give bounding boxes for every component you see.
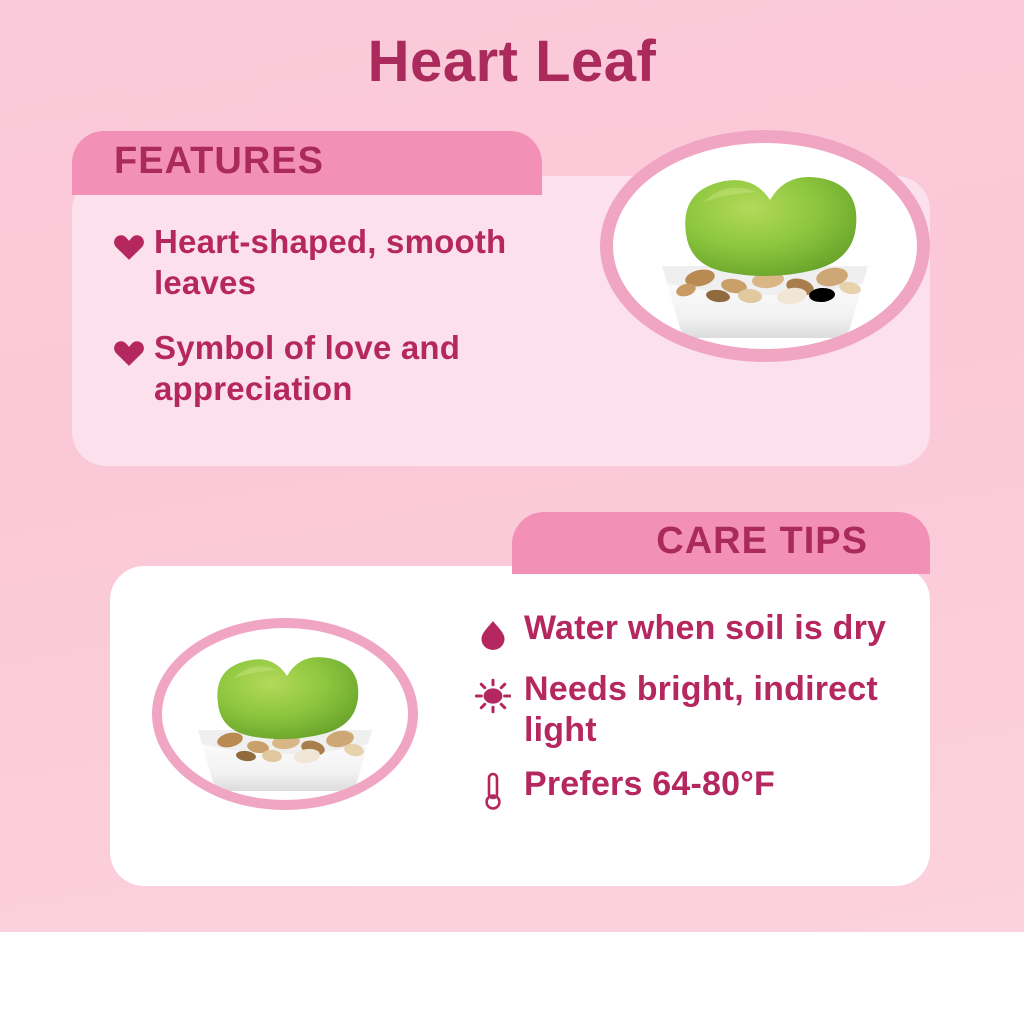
features-header-band: FEATURES — [72, 131, 542, 195]
water-drop-icon — [470, 614, 516, 656]
heart-leaf-plant-illustration — [600, 130, 930, 362]
care-tips-heading: CARE TIPS — [656, 520, 868, 563]
infographic-poster: Heart Leaf FEATURES Heart-shaped, smooth… — [0, 0, 1024, 1024]
heart-icon — [112, 337, 146, 372]
list-item-label: Needs bright, indirect light — [524, 669, 920, 751]
heart-icon — [112, 231, 146, 266]
thermometer-icon — [470, 770, 516, 812]
features-list: Heart-shaped, smooth leaves Symbol of lo… — [112, 222, 572, 434]
plant-photo-bottom — [152, 618, 418, 810]
list-item-label: Prefers 64-80°F — [524, 764, 775, 805]
plant-photo-top — [600, 130, 930, 362]
care-tips-header-band: CARE TIPS — [512, 512, 930, 574]
care-tips-list: Water when soil is dry — [470, 608, 920, 825]
list-item: Prefers 64-80°F — [470, 764, 920, 812]
heart-leaf-plant-illustration — [152, 618, 418, 810]
list-item: Needs bright, indirect light — [470, 669, 920, 751]
list-item: Water when soil is dry — [470, 608, 920, 656]
features-heading: FEATURES — [114, 140, 324, 183]
list-item: Heart-shaped, smooth leaves — [112, 222, 572, 304]
list-item: Symbol of love and appreciation — [112, 328, 572, 410]
list-item-label: Heart-shaped, smooth leaves — [154, 222, 572, 304]
list-item-label: Symbol of love and appreciation — [154, 328, 572, 410]
page-title: Heart Leaf — [0, 30, 1024, 94]
sun-icon — [470, 675, 516, 717]
list-item-label: Water when soil is dry — [524, 608, 886, 649]
